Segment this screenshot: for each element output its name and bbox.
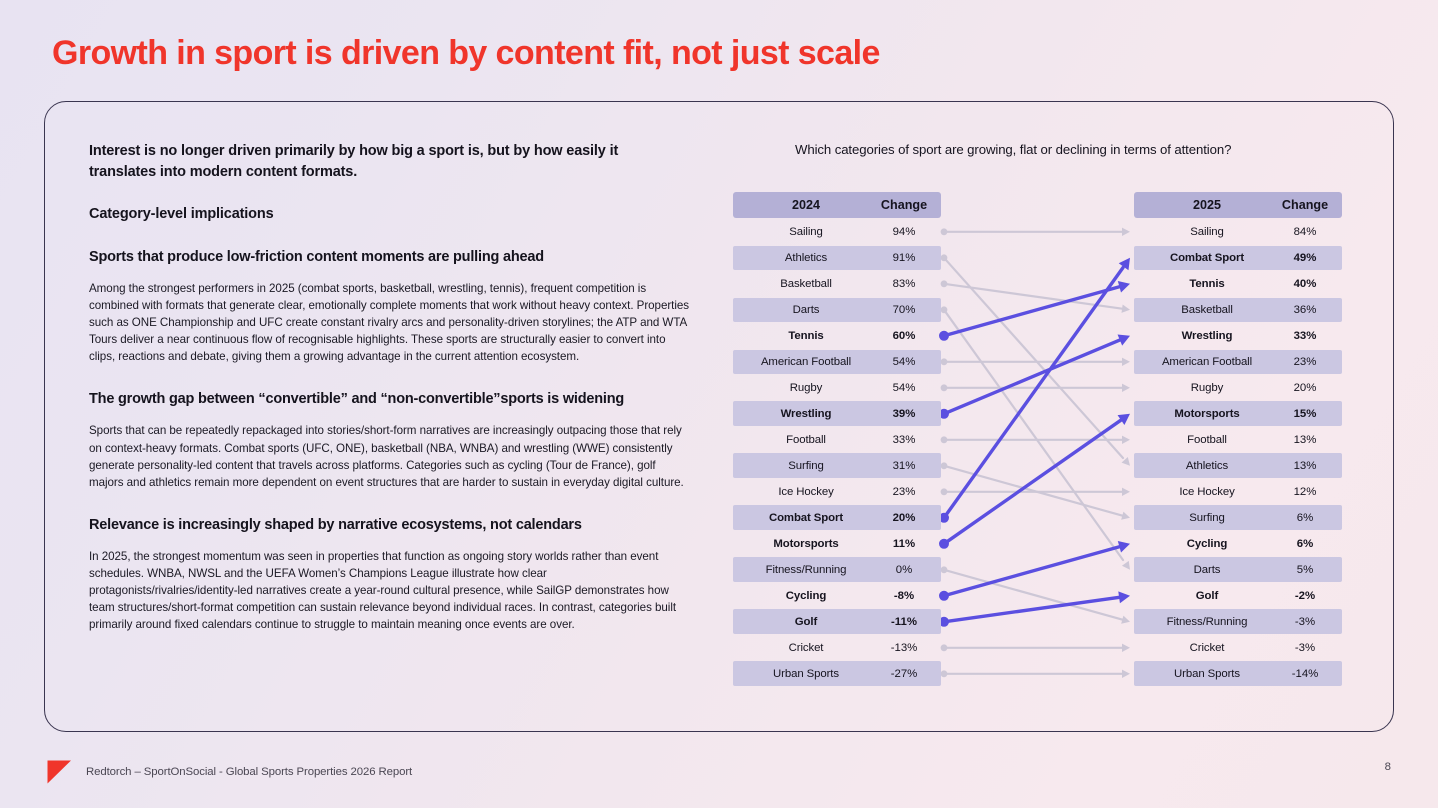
lead-paragraph: Interest is no longer driven primarily b… [89, 141, 689, 182]
slope-link-fitness-running [944, 570, 1123, 620]
section-heading-1: Sports that produce low-friction content… [89, 247, 689, 267]
slope-link-wrestling [944, 339, 1123, 414]
slope-row-2025[interactable]: American Football23% [1134, 350, 1342, 374]
slope-row-value: 15% [1274, 408, 1336, 420]
slope-link-start-dot [941, 228, 948, 235]
slope-link-cycling [944, 546, 1123, 596]
slope-row-label: Golf [1134, 590, 1280, 602]
redtorch-logo-icon [46, 759, 73, 785]
slope-row-2024[interactable]: Cricket-13% [733, 635, 941, 659]
slope-row-label: Motorsports [733, 538, 879, 550]
slope-row-label: Football [1134, 434, 1280, 446]
slope-link-arrow-icon [1121, 512, 1130, 520]
slope-link-tennis [944, 286, 1123, 336]
column-header-year: 2025 [1134, 198, 1280, 212]
slope-row-label: Cricket [1134, 642, 1280, 654]
slope-row-2025[interactable]: Motorsports15% [1134, 401, 1342, 425]
slope-row-value: 33% [873, 434, 935, 446]
section-heading-2: The growth gap between “convertible” and… [89, 389, 689, 409]
slope-row-value: -3% [1274, 642, 1336, 654]
slope-row-2025[interactable]: Tennis40% [1134, 272, 1342, 296]
slope-row-value: -13% [873, 642, 935, 654]
slope-row-value: 31% [873, 460, 935, 472]
slope-row-2025[interactable]: Football13% [1134, 427, 1342, 451]
column-header-2025: 2025 Change [1134, 192, 1342, 218]
slope-row-2025[interactable]: Rugby20% [1134, 376, 1342, 400]
slope-link-arrow-icon [1121, 616, 1130, 624]
section-body-3: In 2025, the strongest momentum was seen… [89, 548, 689, 633]
slope-row-2025[interactable]: Golf-2% [1134, 583, 1342, 607]
slope-row-2024[interactable]: Sailing94% [733, 220, 941, 244]
slope-row-label: Fitness/Running [1134, 616, 1280, 628]
slope-row-value: 23% [1274, 356, 1336, 368]
slope-row-value: 23% [873, 486, 935, 498]
slope-link-start-dot [941, 358, 948, 365]
slope-row-2025[interactable]: Urban Sports-14% [1134, 661, 1342, 685]
slope-row-2025[interactable]: Surfing6% [1134, 505, 1342, 529]
slope-row-label: Surfing [733, 460, 879, 472]
slope-row-label: Combat Sport [733, 512, 879, 524]
page-number: 8 [1385, 761, 1391, 773]
slope-row-label: Basketball [1134, 304, 1280, 316]
slope-row-value: 60% [873, 330, 935, 342]
slope-row-2025[interactable]: Darts5% [1134, 557, 1342, 581]
slope-link-start-dot [941, 254, 948, 261]
slope-link-arrow-icon [1118, 414, 1130, 425]
slope-row-2025[interactable]: Fitness/Running-3% [1134, 609, 1342, 633]
slope-row-label: Urban Sports [1134, 668, 1280, 680]
slope-row-value: 20% [1274, 382, 1336, 394]
section-heading-3: Relevance is increasingly shaped by narr… [89, 515, 689, 535]
column-header-2024: 2024 Change [733, 192, 941, 218]
slope-row-2024[interactable]: Surfing31% [733, 453, 941, 477]
slope-row-label: Tennis [1134, 278, 1280, 290]
slope-row-2024[interactable]: Darts70% [733, 298, 941, 322]
slope-row-label: Sailing [1134, 226, 1280, 238]
slope-link-athletics [944, 258, 1123, 458]
slope-link-arrow-icon [1118, 541, 1130, 553]
slope-row-label: Basketball [733, 278, 879, 290]
slope-row-2024[interactable]: Fitness/Running0% [733, 557, 941, 581]
slope-row-label: American Football [1134, 356, 1280, 368]
slope-link-start-dot [941, 436, 948, 443]
slope-link-arrow-icon [1121, 305, 1130, 313]
slope-row-2025[interactable]: Ice Hockey12% [1134, 479, 1342, 503]
slope-row-label: Darts [733, 304, 879, 316]
slope-row-label: Athletics [1134, 460, 1280, 472]
slope-row-label: Surfing [1134, 512, 1280, 524]
slide: Growth in sport is driven by content fit… [0, 0, 1438, 808]
slope-row-value: -2% [1274, 590, 1336, 602]
slope-row-2024[interactable]: Basketball83% [733, 272, 941, 296]
slope-row-2024[interactable]: Football33% [733, 427, 941, 451]
slope-row-label: Ice Hockey [1134, 486, 1280, 498]
column-header-change: Change [873, 198, 935, 212]
slope-column-2024: 2024 Change Sailing94%Athletics91%Basket… [733, 192, 941, 686]
slope-row-value: -8% [873, 590, 935, 602]
slope-link-golf [944, 597, 1123, 622]
slope-row-2024[interactable]: Cycling-8% [733, 583, 941, 607]
slope-row-2024[interactable]: Combat Sport20% [733, 505, 941, 529]
slope-row-value: 83% [873, 278, 935, 290]
page-title: Growth in sport is driven by content fit… [52, 34, 880, 73]
slope-row-label: Rugby [1134, 382, 1280, 394]
slope-row-2024[interactable]: Athletics91% [733, 246, 941, 270]
slope-link-arrow-icon [1118, 281, 1130, 293]
slope-row-label: Wrestling [733, 408, 879, 420]
slope-row-value: 49% [1274, 252, 1336, 264]
slope-row-2025[interactable]: Combat Sport49% [1134, 246, 1342, 270]
slope-link-start-dot [941, 488, 948, 495]
slope-row-2024[interactable]: Tennis60% [733, 324, 941, 348]
slope-row-2024[interactable]: Wrestling39% [733, 401, 941, 425]
slope-row-2025[interactable]: Sailing84% [1134, 220, 1342, 244]
slope-row-value: 33% [1274, 330, 1336, 342]
slope-link-arrow-icon [1122, 457, 1130, 466]
slope-link-arrow-icon [1118, 591, 1130, 603]
slope-link-start-dot [941, 384, 948, 391]
slope-row-value: 13% [1274, 460, 1336, 472]
slope-link-arrow-icon [1122, 384, 1130, 392]
slope-row-value: 6% [1274, 512, 1336, 524]
slope-row-value: 6% [1274, 538, 1336, 550]
slope-link-start-dot [941, 306, 948, 313]
slope-link-basketball [944, 284, 1123, 309]
slope-row-label: American Football [733, 356, 879, 368]
slope-link-arrow-icon [1122, 358, 1130, 366]
slope-link-arrow-icon [1122, 436, 1130, 444]
slope-row-value: 84% [1274, 226, 1336, 238]
slope-row-label: Rugby [733, 382, 879, 394]
column-header-change: Change [1274, 198, 1336, 212]
slope-link-arrow-icon [1118, 335, 1130, 346]
slope-link-darts [944, 310, 1123, 560]
slope-link-arrow-icon [1119, 258, 1130, 270]
slope-row-value: 54% [873, 356, 935, 368]
slope-row-value: 13% [1274, 434, 1336, 446]
slope-link-start-dot [941, 644, 948, 651]
slope-row-value: 20% [873, 512, 935, 524]
slope-row-label: Sailing [733, 226, 879, 238]
slope-row-value: 5% [1274, 564, 1336, 576]
slope-row-label: Combat Sport [1134, 252, 1280, 264]
slope-row-label: Ice Hockey [733, 486, 879, 498]
slope-row-value: 0% [873, 564, 935, 576]
slope-link-surfing [944, 466, 1123, 516]
slope-row-label: Fitness/Running [733, 564, 879, 576]
slope-link-combat-sport [944, 268, 1123, 518]
slope-row-value: -11% [873, 616, 935, 628]
slope-row-label: Cycling [733, 590, 879, 602]
slope-row-label: Wrestling [1134, 330, 1280, 342]
slope-row-2024[interactable]: Motorsports11% [733, 531, 941, 555]
slope-row-2025[interactable]: Athletics13% [1134, 453, 1342, 477]
slope-row-value: 11% [873, 538, 935, 550]
slope-link-arrow-icon [1122, 644, 1130, 652]
left-text-column: Interest is no longer driven primarily b… [89, 141, 689, 633]
slope-row-value: 12% [1274, 486, 1336, 498]
slope-row-value: 54% [873, 382, 935, 394]
slope-row-label: Motorsports [1134, 408, 1280, 420]
chart-question: Which categories of sport are growing, f… [795, 142, 1231, 157]
slope-link-start-dot [941, 566, 948, 573]
slope-row-value: 36% [1274, 304, 1336, 316]
slope-row-label: Football [733, 434, 879, 446]
slope-chart: 2024 Change Sailing94%Athletics91%Basket… [733, 192, 1343, 662]
slope-link-arrow-icon [1122, 561, 1130, 570]
slope-link-arrow-icon [1122, 488, 1130, 496]
slope-row-value: -3% [1274, 616, 1336, 628]
slope-row-value: 40% [1274, 278, 1336, 290]
slope-row-2025[interactable]: Basketball36% [1134, 298, 1342, 322]
footer: Redtorch – SportOnSocial - Global Sports… [46, 759, 412, 785]
slope-row-value: -27% [873, 668, 935, 680]
slope-row-2024[interactable]: Urban Sports-27% [733, 661, 941, 685]
slope-row-value: 39% [873, 408, 935, 420]
slope-row-label: Golf [733, 616, 879, 628]
category-implications-heading: Category-level implications [89, 205, 689, 225]
slope-row-value: -14% [1274, 668, 1336, 680]
slope-row-label: Urban Sports [733, 668, 879, 680]
slope-column-2025: 2025 Change Sailing84%Combat Sport49%Ten… [1134, 192, 1342, 686]
slope-link-motorsports [944, 419, 1123, 544]
slope-link-start-dot [941, 280, 948, 287]
column-header-year: 2024 [733, 198, 879, 212]
slope-row-label: Cycling [1134, 538, 1280, 550]
slope-row-2024[interactable]: Rugby54% [733, 376, 941, 400]
slope-row-2025[interactable]: Cycling6% [1134, 531, 1342, 555]
slope-row-label: Darts [1134, 564, 1280, 576]
section-body-2: Sports that can be repeatedly repackaged… [89, 422, 689, 490]
slope-row-label: Tennis [733, 330, 879, 342]
slope-row-2025[interactable]: Wrestling33% [1134, 324, 1342, 348]
slope-row-label: Cricket [733, 642, 879, 654]
slope-row-value: 91% [873, 252, 935, 264]
footer-text: Redtorch – SportOnSocial - Global Sports… [86, 766, 412, 778]
slope-row-label: Athletics [733, 252, 879, 264]
slope-row-value: 70% [873, 304, 935, 316]
slope-row-2025[interactable]: Cricket-3% [1134, 635, 1342, 659]
slope-row-value: 94% [873, 226, 935, 238]
slope-row-2024[interactable]: American Football54% [733, 350, 941, 374]
slope-row-2024[interactable]: Ice Hockey23% [733, 479, 941, 503]
slope-link-arrow-icon [1122, 228, 1130, 236]
slope-link-start-dot [941, 462, 948, 469]
section-body-1: Among the strongest performers in 2025 (… [89, 280, 689, 365]
slope-row-2024[interactable]: Golf-11% [733, 609, 941, 633]
